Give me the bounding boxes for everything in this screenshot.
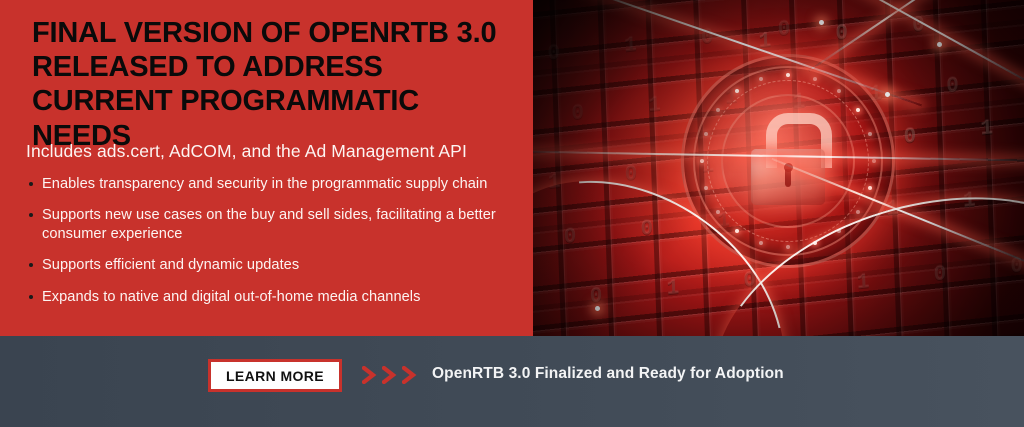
artwork-vignette (533, 0, 1024, 336)
openrtb-promo-banner: 0 1 0 0 1 0 0 0 1 1 1 1 0 0 1 1 0 1 0 0 … (0, 0, 1024, 427)
bullet-dot-icon (29, 263, 33, 267)
chevron-right-icon (382, 366, 397, 384)
copy-panel: Final version of OpenRTB 3.0 released to… (0, 0, 533, 336)
chevron-right-icon (402, 366, 417, 384)
list-item-label: Supports new use cases on the buy and se… (42, 207, 496, 241)
list-item: Enables transparency and security in the… (26, 175, 526, 193)
list-item-label: Enables transparency and security in the… (42, 176, 487, 192)
learn-more-button-label: LEARN MORE (226, 368, 324, 384)
list-item-label: Expands to native and digital out-of-hom… (42, 289, 420, 305)
bullet-dot-icon (29, 213, 33, 217)
cta-tagline: OpenRTB 3.0 Finalized and Ready for Adop… (432, 365, 784, 383)
feature-list: Enables transparency and security in the… (26, 175, 526, 306)
banner-top-area: 0 1 0 0 1 0 0 0 1 1 1 1 0 0 1 1 0 1 0 0 … (0, 0, 1024, 336)
chevron-arrows (362, 366, 417, 384)
list-item: Expands to native and digital out-of-hom… (26, 288, 526, 306)
list-item: Supports new use cases on the buy and se… (26, 206, 526, 243)
chevron-right-icon (362, 366, 377, 384)
page-title: Final version of OpenRTB 3.0 released to… (32, 16, 512, 153)
learn-more-button[interactable]: LEARN MORE (208, 359, 342, 392)
bullet-dot-icon (29, 295, 33, 299)
artwork-panel: 0 1 0 0 1 0 0 0 1 1 1 1 0 0 1 1 0 1 0 0 … (533, 0, 1024, 336)
list-item-label: Supports efficient and dynamic updates (42, 257, 299, 273)
list-item: Supports efficient and dynamic updates (26, 256, 526, 274)
subtitle: Includes ads.cert, AdCOM, and the Ad Man… (26, 141, 526, 163)
bullet-dot-icon (29, 182, 33, 186)
